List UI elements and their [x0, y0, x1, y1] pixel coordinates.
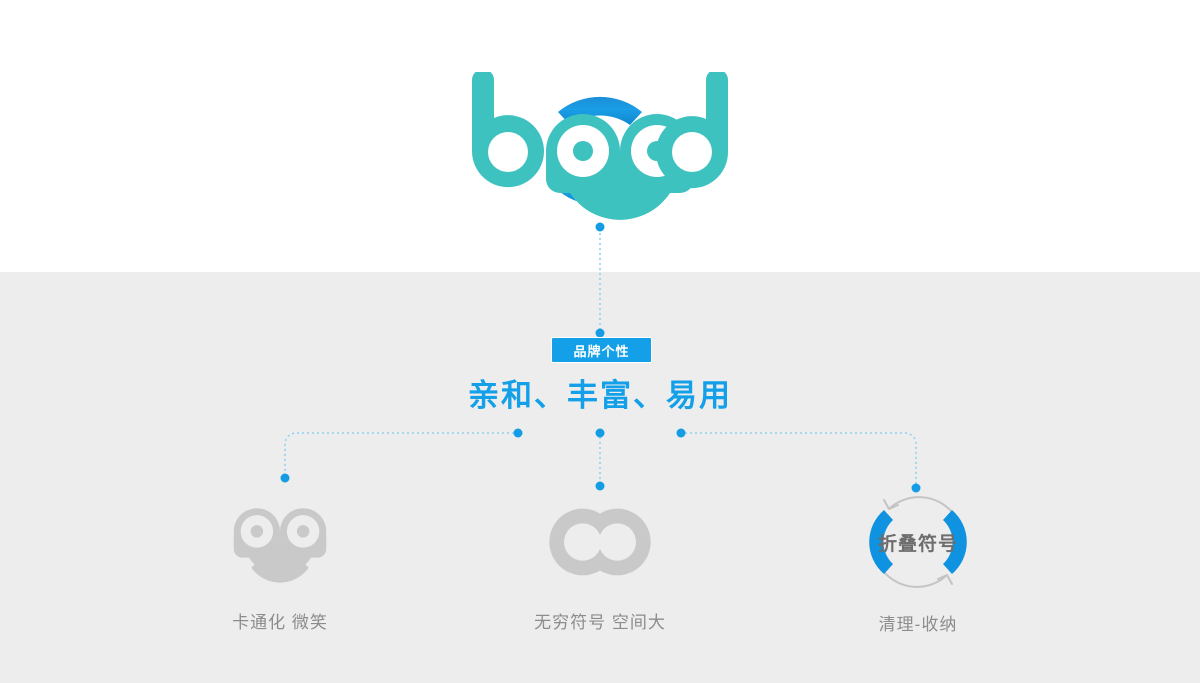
logo-letter-b-counter — [488, 132, 528, 172]
logo-pupil-left — [573, 141, 593, 161]
feature-label: 无穷符号 空间大 — [480, 608, 720, 633]
page-title: 亲和、丰富、易用 — [0, 377, 1200, 415]
feature-item-cartoon: 卡通化 微笑 — [160, 490, 400, 633]
fold-inner-label: 折叠符号 — [860, 486, 976, 598]
brand-identity-slide: 品牌个性 亲和、丰富、易用 卡通化 微笑 无穷符号 — [0, 0, 1200, 683]
cartoon-pupil-left — [251, 525, 264, 538]
infinity-hole-right — [599, 523, 636, 560]
feature-icon-wrap: 折叠符号 — [798, 484, 1038, 600]
cartoon-pupil-right — [297, 525, 310, 538]
badge-label: 品牌个性 — [573, 341, 629, 360]
feature-item-infinity: 无穷符号 空间大 — [480, 490, 720, 633]
fold-icon-wrap: 折叠符号 — [860, 486, 976, 598]
infinity-hole-left — [564, 523, 601, 560]
cartoon-face-icon — [230, 492, 330, 592]
logo-letter-d-counter — [672, 132, 712, 172]
booad-logo-icon — [452, 72, 748, 220]
feature-item-fold: 折叠符号 清理-收纳 — [798, 484, 1038, 635]
brand-personality-badge: 品牌个性 — [551, 337, 652, 363]
feature-icon-wrap — [160, 490, 400, 594]
infinity-symbol-icon — [544, 502, 656, 582]
feature-label: 清理-收纳 — [798, 610, 1038, 635]
brand-logo — [452, 72, 748, 220]
feature-label: 卡通化 微笑 — [160, 608, 400, 633]
feature-icon-wrap — [480, 490, 720, 594]
